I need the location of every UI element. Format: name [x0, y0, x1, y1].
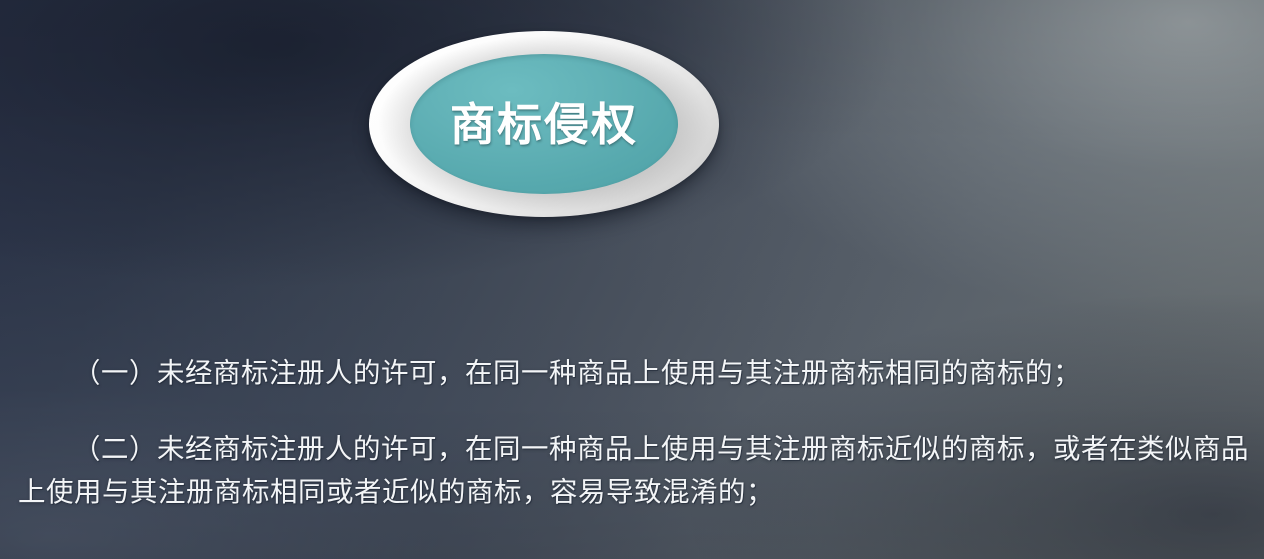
clause-list: （一）未经商标注册人的许可，在同一种商品上使用与其注册商标相同的商标的； （二）…	[18, 352, 1250, 514]
title-badge: 商标侵权	[369, 31, 719, 217]
clause-paragraph-1: （一）未经商标注册人的许可，在同一种商品上使用与其注册商标相同的商标的；	[18, 352, 1250, 395]
badge-inner-ellipse: 商标侵权	[410, 54, 678, 194]
badge-title-text: 商标侵权	[450, 102, 638, 147]
slide-canvas: 商标侵权 （一）未经商标注册人的许可，在同一种商品上使用与其注册商标相同的商标的…	[0, 0, 1264, 559]
clause-paragraph-2: （二）未经商标注册人的许可，在同一种商品上使用与其注册商标近似的商标，或者在类似…	[18, 428, 1250, 514]
